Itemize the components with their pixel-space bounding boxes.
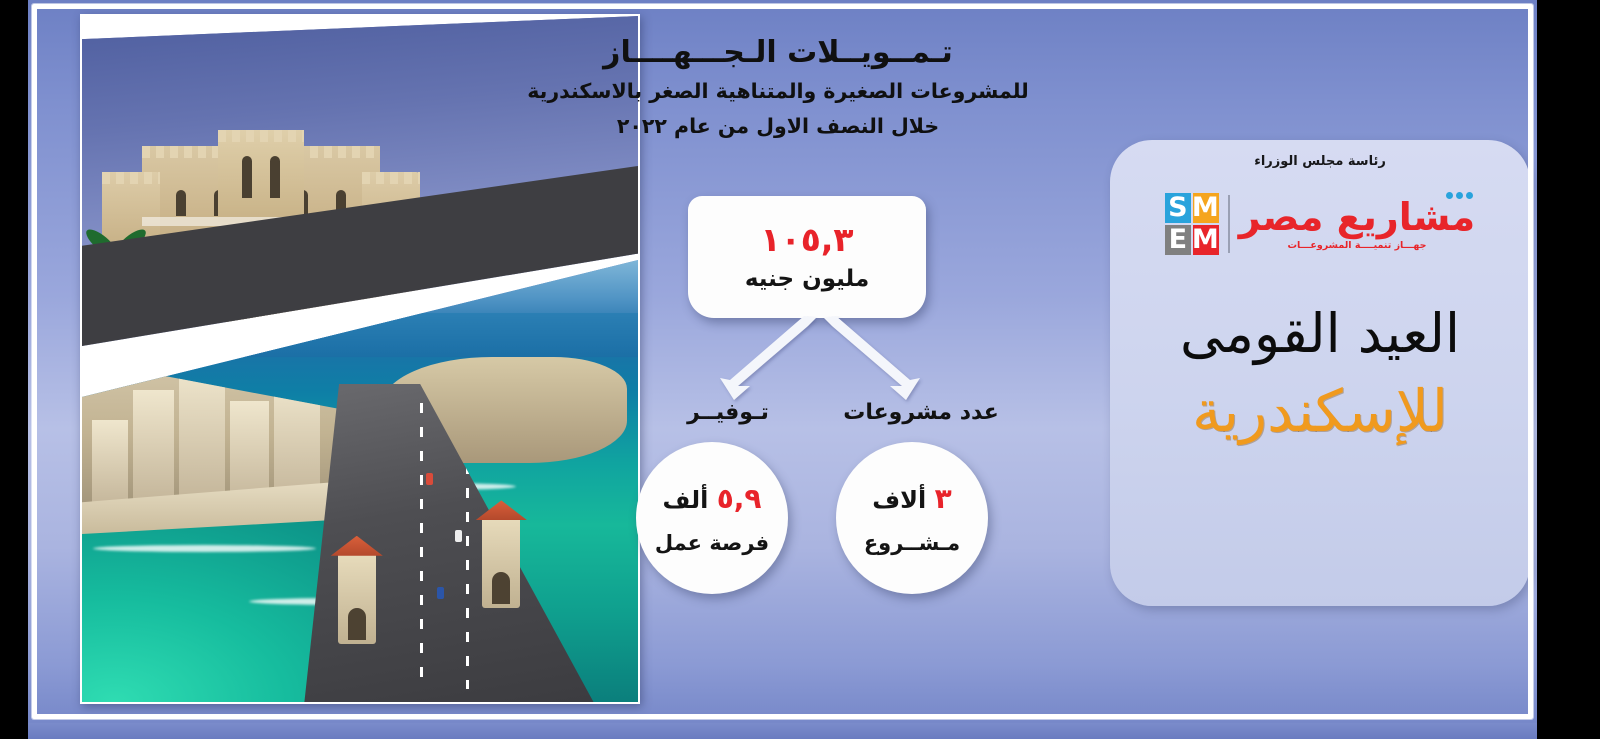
headings-block: تـمــويــلات الـجـــهــــاز للمشروعات ال… — [498, 34, 1058, 143]
stat-circle-projects: ٣ ألاف مـشــروع — [836, 442, 988, 594]
bridge-tower-right — [482, 516, 520, 608]
arrow-to-right-branch — [824, 316, 920, 400]
msme-block-s: S — [1165, 193, 1191, 223]
brand-subtitle: جهـــاز تنميــــة المشروعـــات — [1288, 240, 1427, 251]
cabinet-label: رئاسة مجلس الوزراء — [1110, 154, 1530, 169]
subtitle-period: خلال النصف الاول من عام ٢٠٢٢ — [498, 110, 1058, 143]
subtitle-scope: للمشروعات الصغيرة والمتناهية الصغر بالاس… — [498, 72, 1058, 111]
msme-block-m2: M — [1193, 225, 1219, 255]
brand-arabic: مشاريع مصر — [1239, 198, 1475, 236]
logo-dots-icon — [1446, 192, 1473, 199]
logo-divider — [1228, 195, 1230, 253]
calligraphy-block: العيد القومى للإسكندرية — [1110, 300, 1530, 449]
citadel-window — [242, 156, 252, 198]
projects-value-suffix: ألاف — [872, 486, 926, 514]
battlement — [102, 172, 160, 184]
branch-label-savings: تـوفيــر — [640, 400, 816, 425]
bottom-strip — [28, 723, 1537, 739]
main-stat-bubble: ١٠٥,٣ مليون جنيه — [688, 196, 926, 318]
battlement — [362, 172, 420, 184]
arrow-to-left-branch — [720, 316, 816, 400]
citadel-keep — [218, 130, 304, 222]
jobs-unit: فرصة عمل — [655, 531, 769, 555]
tower-arch — [492, 572, 510, 604]
citadel-window — [176, 190, 186, 216]
stat-circle-jobs: ٥,٩ ألف فرصة عمل — [636, 442, 788, 594]
battlement — [218, 130, 304, 142]
tower-arch — [348, 608, 366, 640]
projects-unit: مـشــروع — [864, 531, 960, 555]
projects-value-line: ٣ ألاف — [872, 482, 951, 515]
page-title: تـمــويــلات الـجـــهــــاز — [498, 34, 1058, 72]
citadel-window — [270, 156, 280, 198]
branding-panel: رئاسة مجلس الوزراء مشاريع مصر جهـــاز تن… — [1110, 140, 1530, 606]
calligraphy-line-2: للإسكندرية — [1110, 374, 1530, 449]
branch-arrows — [658, 316, 978, 406]
branch-label-projects: عدد مشروعات — [821, 400, 1021, 425]
jobs-value: ٥,٩ — [717, 482, 762, 515]
infographic-stage: تـمــويــلات الـجـــهــــاز للمشروعات ال… — [0, 0, 1600, 739]
brand-mark: مشاريع مصر جهـــاز تنميــــة المشروعـــا… — [1239, 198, 1475, 251]
bridge-tower-left — [338, 552, 376, 644]
jobs-value-line: ٥,٩ ألف — [663, 482, 762, 515]
msme-logo: مشاريع مصر جهـــاز تنميــــة المشروعـــا… — [1110, 182, 1530, 266]
main-stat-unit: مليون جنيه — [745, 266, 869, 292]
jobs-value-suffix: ألف — [663, 486, 709, 514]
main-stat-value: ١٠٥,٣ — [760, 222, 853, 258]
msme-block-e: E — [1165, 225, 1191, 255]
projects-value: ٣ — [935, 482, 952, 515]
msme-block-m1: M — [1193, 193, 1219, 223]
msme-blocks: M S M E — [1165, 193, 1219, 255]
calligraphy-line-1: العيد القومى — [1110, 300, 1530, 368]
infographic-card: تـمــويــلات الـجـــهــــاز للمشروعات ال… — [28, 0, 1537, 739]
